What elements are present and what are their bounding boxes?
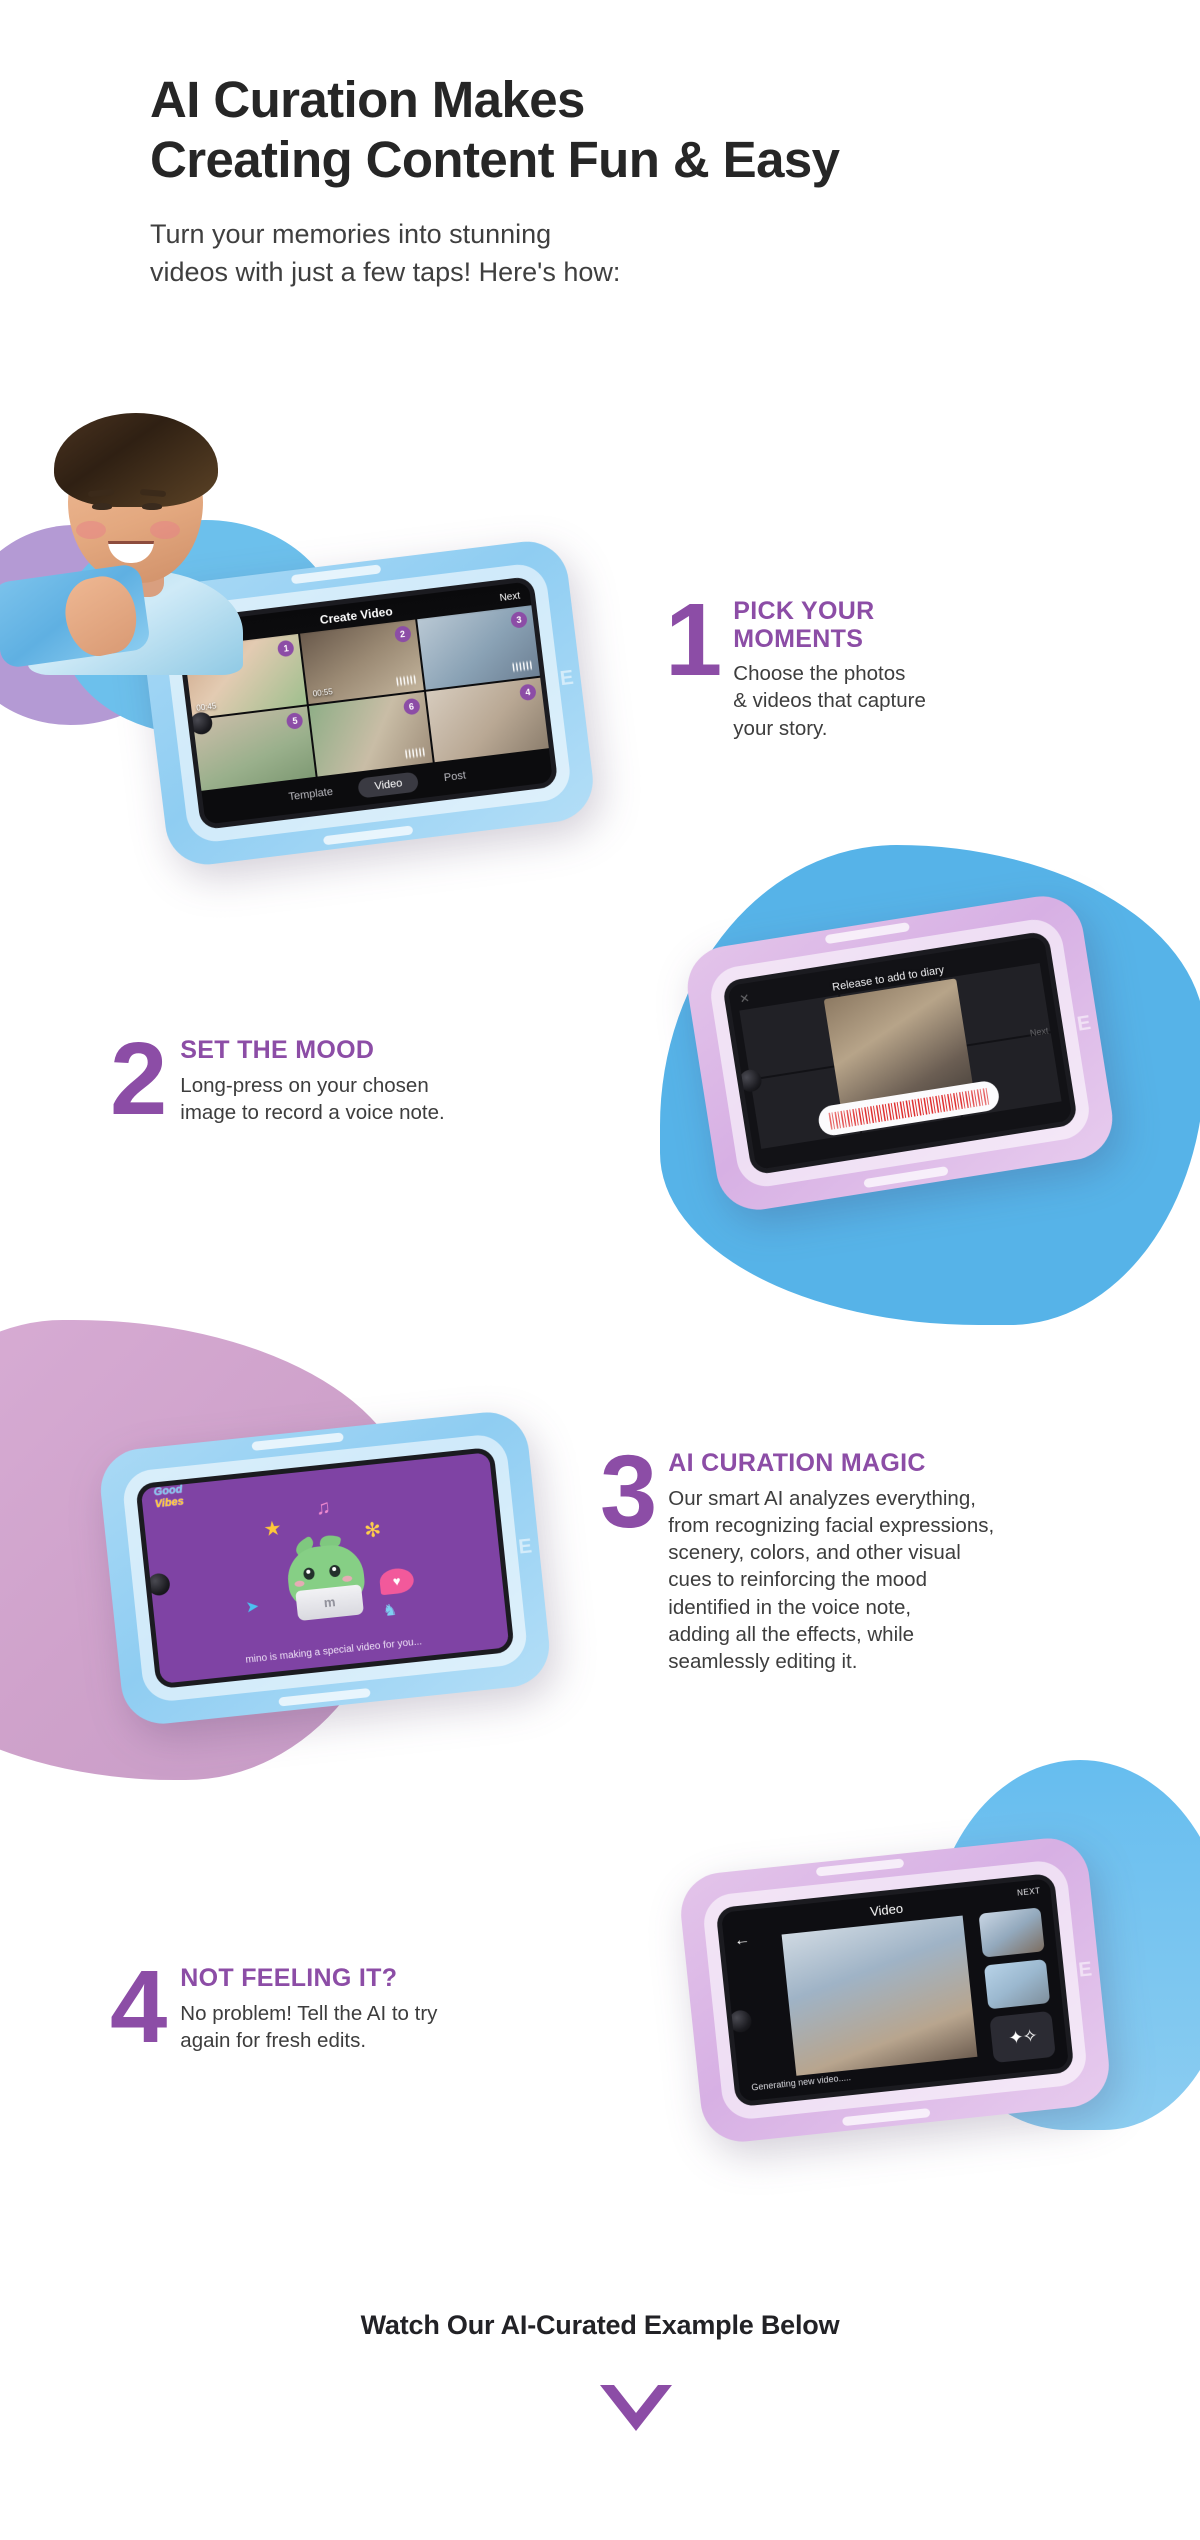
device-screen[interactable]: Video ← NEXT ✦✧ Generating new video....…	[715, 1873, 1074, 2107]
footer: Watch Our AI-Curated Example Below	[0, 2310, 1200, 2385]
device-inner-ring: ✕ Next Release to add to diary	[707, 916, 1093, 1191]
step-2-description: Long-press on your chosen image to recor…	[180, 1072, 510, 1127]
step-1-description: Choose the photos & videos that capture …	[733, 660, 995, 742]
bird-sticker: ➤	[245, 1599, 260, 1616]
boy-blush-right	[150, 521, 180, 539]
boy-eye-right	[142, 503, 162, 510]
device-inner-ring: ★ ♫ ✻ ♥ ➤ ♞ Good Vibes	[121, 1432, 529, 1703]
brand-logo-icon: E	[1076, 1012, 1094, 1037]
step-4-description: No problem! Tell the AI to try again for…	[180, 2000, 510, 2055]
duration-label: 00:55	[312, 687, 333, 698]
good-vibes-sticker: Good Vibes	[141, 1483, 197, 1512]
boy-eye-left	[92, 503, 112, 510]
step-4-number: 4	[110, 1965, 164, 2049]
step-2-title: SET THE MOOD	[180, 1037, 510, 1065]
step-2-body: SET THE MOOD Long-press on your chosen i…	[180, 1037, 510, 1126]
selection-badge: 3	[510, 611, 528, 629]
brand-logo-icon: E	[1078, 1958, 1095, 1982]
waveform-icon	[405, 746, 426, 759]
brand-logo-icon: E	[517, 1535, 534, 1559]
boy-blush-left	[76, 521, 106, 539]
tab-template[interactable]: Template	[288, 786, 334, 803]
device-grip-bottom	[323, 825, 413, 845]
step-1-number: 1	[665, 598, 719, 682]
device-grip-bottom	[278, 1688, 370, 1707]
device-screen[interactable]: ✕ Next Release to add to diary	[722, 930, 1079, 1175]
device-grip-top	[251, 1432, 343, 1451]
music-note-sticker: ♫	[315, 1497, 332, 1518]
device-shell: E ★ ♫ ✻ ♥ ➤ ♞ Good Vibes	[97, 1408, 553, 1727]
selection-badge: 6	[403, 698, 421, 716]
waveform-icon	[396, 674, 417, 687]
selection-badge: 2	[394, 625, 412, 643]
curation-status-label: mino is making a special video for you..…	[159, 1627, 508, 1675]
curation-stage: ★ ♫ ✻ ♥ ➤ ♞ Good Vibes	[141, 1452, 510, 1684]
footer-cta-label: Watch Our AI-Curated Example Below	[0, 2310, 1200, 2341]
page-title: AI Curation Makes Creating Content Fun &…	[150, 70, 839, 189]
infographic-page: AI Curation Makes Creating Content Fun &…	[0, 0, 1200, 2540]
tab-video[interactable]: Video	[358, 771, 420, 798]
step-3-title: AI CURATION MAGIC	[668, 1450, 1070, 1478]
step-1: 1 PICK YOUR MOMENTS Choose the photos & …	[665, 598, 995, 742]
device-ai-curating: E ★ ♫ ✻ ♥ ➤ ♞ Good Vibes	[97, 1408, 553, 1727]
heart-bubble-sticker: ♥	[379, 1567, 415, 1595]
brand-logo-icon: E	[559, 666, 576, 691]
tab-post[interactable]: Post	[443, 770, 466, 785]
header: AI Curation Makes Creating Content Fun &…	[150, 70, 839, 291]
boy-hair	[54, 413, 218, 507]
waveform-icon	[512, 660, 533, 673]
step-4-body: NOT FEELING IT? No problem! Tell the AI …	[180, 1965, 510, 2054]
step-2: 2 SET THE MOOD Long-press on your chosen…	[110, 1037, 510, 1126]
photo-boy-with-tablet	[10, 395, 280, 675]
step-1-title: PICK YOUR MOMENTS	[733, 598, 995, 653]
step-2-number: 2	[110, 1037, 164, 1121]
step-3-description: Our smart AI analyzes everything, from r…	[668, 1485, 1070, 1676]
step-3: 3 AI CURATION MAGIC Our smart AI analyze…	[600, 1450, 1070, 1675]
thumbnail-2[interactable]	[984, 1959, 1050, 2009]
ai-sparkle-button[interactable]: ✦✧	[989, 2011, 1055, 2063]
thumbnail-1[interactable]	[978, 1907, 1044, 1957]
device-shell: E Video ← NEXT ✦✧ Generating new video..…	[677, 1834, 1113, 2145]
mino-mascot: m	[267, 1522, 384, 1629]
selection-badge: 5	[286, 712, 304, 730]
video-preview[interactable]	[782, 1916, 978, 2076]
device-generating-video: E Video ← NEXT ✦✧ Generating new video..…	[677, 1834, 1113, 2145]
good-vibes-line2: Vibes	[142, 1495, 197, 1512]
step-3-number: 3	[600, 1450, 654, 1534]
step-4: 4 NOT FEELING IT? No problem! Tell the A…	[110, 1965, 510, 2054]
device-inner-ring: Video ← NEXT ✦✧ Generating new video....…	[701, 1858, 1089, 2121]
device-grip-top	[816, 1858, 904, 1876]
page-subtitle: Turn your memories into stunning videos …	[150, 216, 839, 291]
step-1-body: PICK YOUR MOMENTS Choose the photos & vi…	[733, 598, 995, 742]
device-grip-bottom	[842, 2108, 930, 2126]
step-3-body: AI CURATION MAGIC Our smart AI analyzes …	[668, 1450, 1070, 1675]
step-4-title: NOT FEELING IT?	[180, 1965, 510, 1993]
selection-badge: 4	[519, 683, 537, 701]
mascot-laptop: m	[295, 1584, 364, 1621]
device-screen[interactable]: ★ ♫ ✻ ♥ ➤ ♞ Good Vibes	[135, 1447, 515, 1690]
back-arrow-icon[interactable]: ←	[733, 1932, 751, 1950]
duration-label: 00:45	[196, 701, 217, 712]
